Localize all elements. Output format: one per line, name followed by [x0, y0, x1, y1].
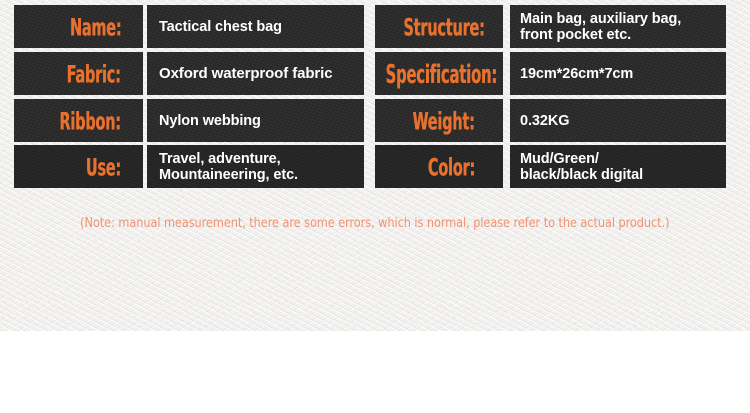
product-spec-panel: Name: Tactical chest bag Structure: Main…	[0, 0, 750, 413]
spec-label-structure: Structure:	[404, 14, 485, 38]
spec-value-ribbon: Nylon webbing	[159, 113, 261, 129]
spec-value-specification: 19cm*26cm*7cm	[520, 66, 633, 82]
spec-label-cell-specification: Specification:	[375, 52, 503, 95]
spec-label-weight: Weight:	[413, 108, 475, 132]
spec-label-ribbon: Ribbon:	[60, 108, 121, 132]
spec-label-cell-structure: Structure:	[375, 5, 503, 48]
spec-label-name: Name:	[70, 14, 121, 38]
measurement-note: (Note: manual measurement, there are som…	[0, 214, 750, 232]
spec-value-color: Mud/Green/ black/black digital	[520, 151, 643, 183]
spec-value-structure: Main bag, auxiliary bag, front pocket et…	[520, 11, 681, 43]
spec-table: Name: Tactical chest bag Structure: Main…	[0, 0, 750, 195]
measurement-note-text: (Note: manual measurement, there are som…	[80, 215, 669, 231]
spec-value-cell-name: Tactical chest bag	[147, 5, 364, 48]
spec-label-cell-fabric: Fabric:	[14, 52, 143, 95]
spec-label-use: Use:	[86, 154, 121, 178]
spec-label-cell-color: Color:	[375, 145, 503, 188]
spec-value-use: Travel, adventure, Mountaineering, etc.	[159, 151, 298, 183]
spec-value-cell-ribbon: Nylon webbing	[147, 99, 364, 142]
spec-label-fabric: Fabric:	[67, 61, 121, 85]
spec-value-cell-use: Travel, adventure, Mountaineering, etc.	[147, 145, 364, 188]
spec-value-cell-structure: Main bag, auxiliary bag, front pocket et…	[510, 5, 726, 48]
spec-value-cell-fabric: Oxford waterproof fabric	[147, 52, 364, 95]
spec-value-name: Tactical chest bag	[159, 19, 282, 35]
spec-value-cell-specification: 19cm*26cm*7cm	[510, 52, 726, 95]
spec-label-color: Color:	[428, 154, 475, 178]
spec-label-specification: Specification:	[385, 61, 497, 87]
spec-value-cell-weight: 0.32KG	[510, 99, 726, 142]
spec-label-cell-name: Name:	[14, 5, 143, 48]
spec-value-fabric: Oxford waterproof fabric	[159, 66, 332, 82]
spec-value-weight: 0.32KG	[520, 113, 569, 129]
spec-label-cell-use: Use:	[14, 145, 143, 188]
spec-label-cell-ribbon: Ribbon:	[14, 99, 143, 142]
spec-value-cell-color: Mud/Green/ black/black digital	[510, 145, 726, 188]
spec-label-cell-weight: Weight:	[375, 99, 503, 142]
